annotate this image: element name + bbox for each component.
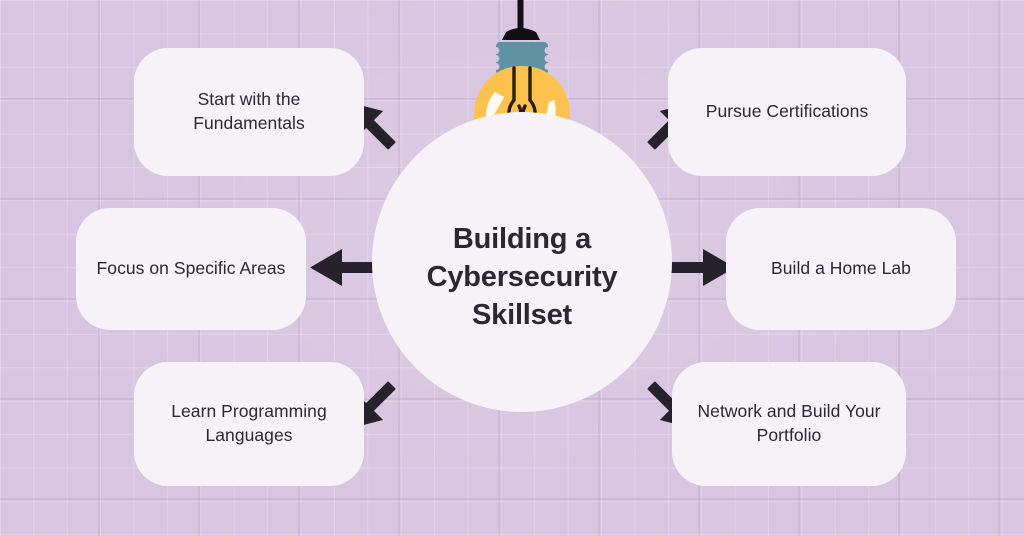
card-label: Focus on Specific Areas [97, 257, 286, 281]
arrow-to-middle-right [665, 249, 735, 286]
card-label: Network and Build Your Portfolio [690, 400, 888, 448]
card-label: Start with the Fundamentals [152, 88, 346, 136]
card-focus-on-specific-areas[interactable]: Focus on Specific Areas [76, 208, 306, 330]
card-network-and-build-your-portfolio[interactable]: Network and Build Your Portfolio [672, 362, 906, 486]
card-pursue-certifications[interactable]: Pursue Certifications [668, 48, 906, 176]
card-label: Pursue Certifications [706, 100, 869, 124]
arrow-to-middle-left [310, 249, 380, 286]
page-title-line-1: Building a [402, 221, 642, 259]
card-start-with-the-fundamentals[interactable]: Start with the Fundamentals [134, 48, 364, 176]
card-build-a-home-lab[interactable]: Build a Home Lab [726, 208, 956, 330]
page-title-line-2: Cybersecurity [402, 259, 642, 297]
infographic-canvas: Building a Cybersecurity Skillset Start … [0, 0, 1024, 536]
card-learn-programming-languages[interactable]: Learn Programming Languages [134, 362, 364, 486]
page-title-line-3: Skillset [402, 297, 642, 335]
page-title: Building a Cybersecurity Skillset [402, 221, 642, 334]
card-label: Build a Home Lab [771, 257, 911, 281]
bulb-socket-top [502, 28, 540, 40]
card-label: Learn Programming Languages [152, 400, 346, 448]
center-hub: Building a Cybersecurity Skillset [372, 112, 672, 412]
